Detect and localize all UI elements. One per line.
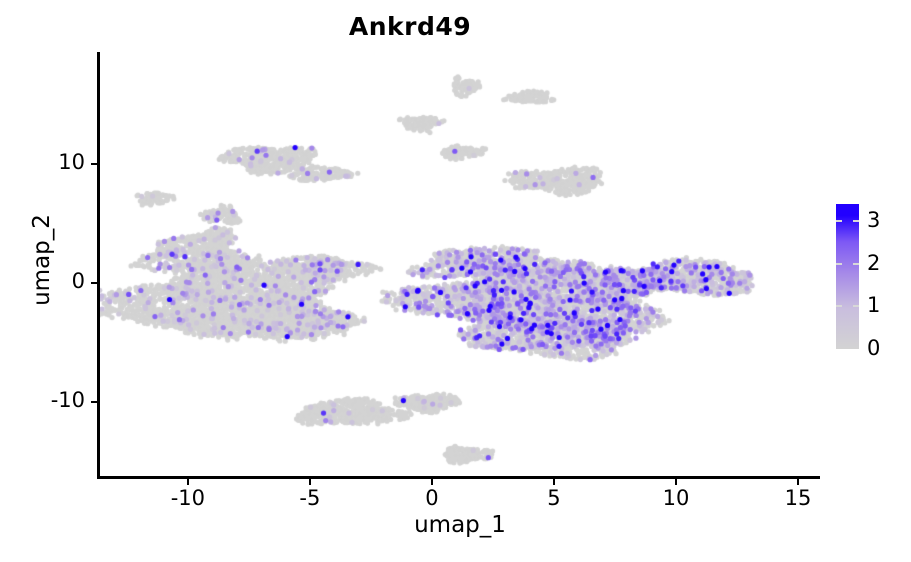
y-tick-label: 10 xyxy=(15,150,85,174)
x-tick-label: -10 xyxy=(153,486,223,510)
x-tick-mark xyxy=(187,479,189,485)
colorbar-tick-right xyxy=(853,305,859,307)
page-title: Ankrd49 xyxy=(0,12,820,41)
y-tick-label: -10 xyxy=(15,388,85,412)
x-tick-label: 0 xyxy=(397,486,467,510)
colorbar-tick-label: 2 xyxy=(867,253,880,274)
y-tick-mark xyxy=(91,282,97,284)
colorbar-tick-mark xyxy=(836,220,859,222)
colorbar-tick-label: 1 xyxy=(867,295,880,316)
colorbar-tick-left xyxy=(836,220,842,222)
colorbar-tick-mark xyxy=(836,305,859,307)
x-tick-label: 15 xyxy=(763,486,833,510)
x-tick-mark xyxy=(553,479,555,485)
scatter-points-canvas xyxy=(100,52,820,476)
expression-colorbar: 0123 xyxy=(836,204,906,349)
colorbar-tick-label: 3 xyxy=(867,210,880,231)
umap-feature-plot: Ankrd49 -10-5051015 -10010 umap_1 umap_2… xyxy=(0,0,911,562)
colorbar-gradient xyxy=(836,204,859,349)
y-tick-mark xyxy=(91,401,97,403)
x-tick-label: -5 xyxy=(275,486,345,510)
colorbar-tick-right xyxy=(853,263,859,265)
x-tick-mark xyxy=(431,479,433,485)
y-axis-spine xyxy=(97,52,100,479)
colorbar-tick-left xyxy=(836,305,842,307)
colorbar-tick-left xyxy=(836,263,842,265)
y-tick-mark xyxy=(91,163,97,165)
colorbar-tick-mark xyxy=(836,263,859,265)
colorbar-tick-right xyxy=(853,220,859,222)
x-tick-mark xyxy=(675,479,677,485)
x-tick-label: 5 xyxy=(519,486,589,510)
y-axis-label: umap_2 xyxy=(29,180,55,340)
x-tick-mark xyxy=(797,479,799,485)
x-axis-spine xyxy=(97,476,820,479)
x-tick-mark xyxy=(309,479,311,485)
scatter-plot-area xyxy=(100,52,820,476)
colorbar-tick-label: 0 xyxy=(867,338,880,359)
x-axis-label: umap_1 xyxy=(100,512,820,538)
x-tick-label: 10 xyxy=(641,486,711,510)
